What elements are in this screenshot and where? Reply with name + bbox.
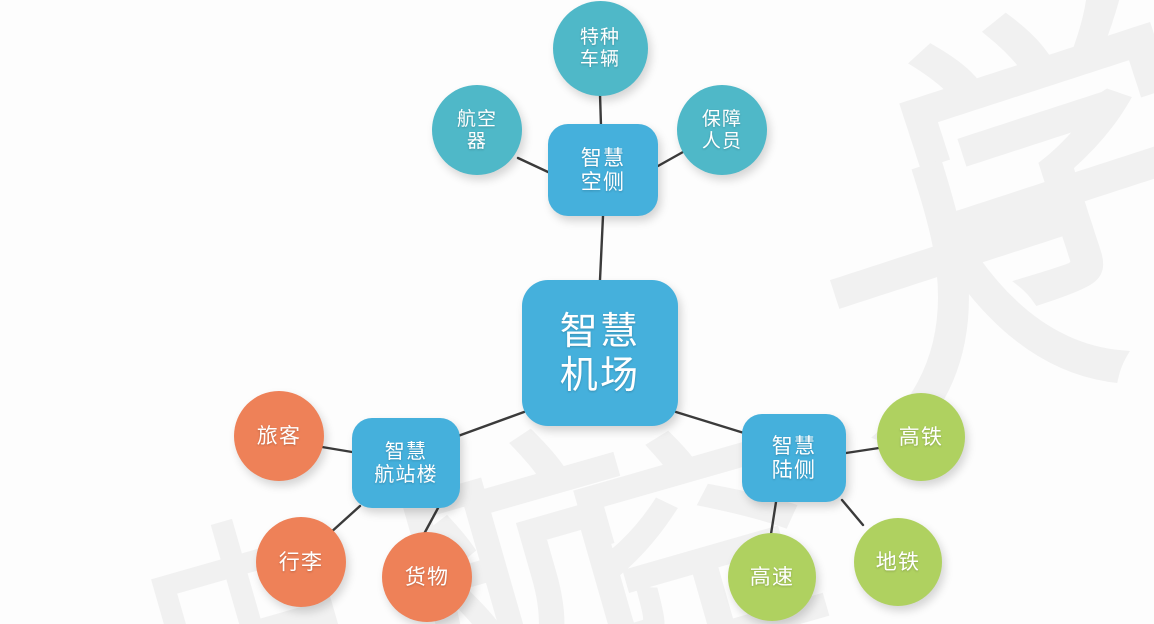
center-node-center[interactable]: 智慧 机场 (522, 280, 678, 426)
node-label: 高铁 (899, 425, 944, 449)
node-label: 特种 车辆 (580, 26, 620, 70)
diagram-canvas: 学大航空中 智慧 机场智慧 空侧航空 器特种 车辆保障 人员智慧 航站楼旅客行李… (0, 0, 1154, 624)
leaf-node-baggage[interactable]: 行李 (256, 517, 346, 607)
node-label: 行李 (279, 550, 324, 574)
leaf-node-high-speed-rail[interactable]: 高铁 (877, 393, 965, 481)
connector-center-to-terminal (458, 412, 524, 436)
leaf-node-special-vehicle[interactable]: 特种 车辆 (553, 1, 648, 96)
connector-airside-to-aircraft (518, 158, 548, 172)
connector-center-to-airside (600, 216, 603, 280)
node-label: 智慧 机场 (560, 309, 641, 397)
node-label: 智慧 空侧 (581, 146, 626, 195)
hub-node-airside[interactable]: 智慧 空侧 (548, 124, 658, 216)
connector-landside-to-subway (842, 500, 863, 525)
node-label: 货物 (405, 565, 450, 589)
hub-node-terminal[interactable]: 智慧 航站楼 (352, 418, 460, 508)
leaf-node-passenger[interactable]: 旅客 (234, 391, 324, 481)
node-label: 旅客 (257, 424, 302, 448)
leaf-node-expressway[interactable]: 高速 (728, 533, 816, 621)
leaf-node-support-staff[interactable]: 保障 人员 (677, 85, 767, 175)
node-label: 高速 (750, 565, 795, 589)
leaf-node-aircraft[interactable]: 航空 器 (432, 85, 522, 175)
watermark-glyph: 学 (866, 0, 1154, 349)
node-label: 智慧 陆侧 (772, 434, 817, 483)
leaf-node-subway[interactable]: 地铁 (854, 518, 942, 606)
connector-airside-to-special-vehicle (600, 94, 601, 126)
connector-terminal-to-passenger (322, 447, 352, 452)
connector-airside-to-support-staff (658, 152, 683, 166)
connector-center-to-landside (676, 412, 744, 433)
node-label: 地铁 (876, 550, 921, 574)
hub-node-landside[interactable]: 智慧 陆侧 (742, 414, 846, 502)
watermark-glyph: 大 (794, 124, 1147, 477)
node-label: 保障 人员 (702, 108, 742, 152)
connector-landside-to-high-speed-rail (846, 448, 879, 453)
connector-terminal-to-baggage (329, 506, 360, 534)
connector-terminal-to-cargo (424, 508, 438, 534)
node-label: 智慧 航站楼 (374, 440, 438, 486)
connector-landside-to-expressway (771, 502, 776, 534)
node-label: 航空 器 (457, 108, 497, 152)
leaf-node-cargo[interactable]: 货物 (382, 532, 472, 622)
